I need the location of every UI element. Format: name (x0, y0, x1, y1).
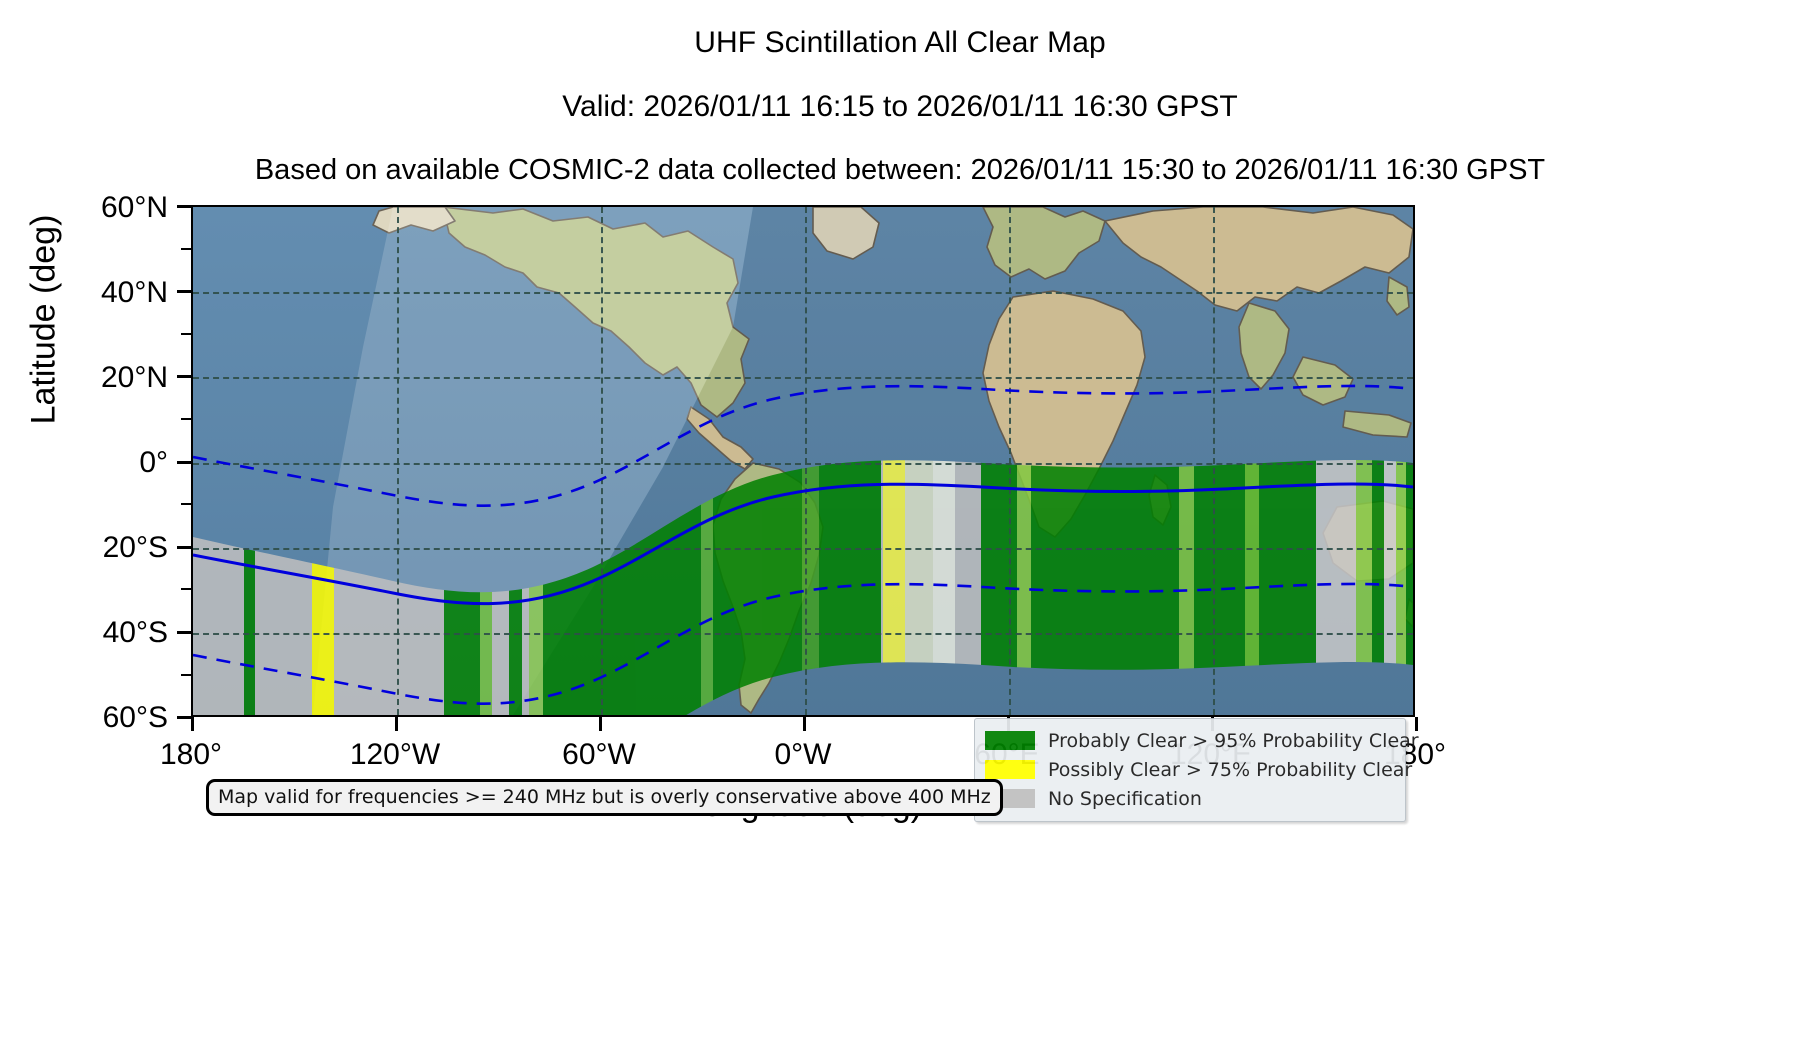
y-tick-minor-50S (181, 674, 191, 676)
legend-label-no-specification: No Specification (1048, 788, 1202, 810)
y-tick-label-20N: 20°N (101, 361, 168, 395)
y-tick-20N (177, 375, 191, 378)
legend-item-no-specification: No Specification (985, 784, 1395, 813)
x-tick-120W (395, 717, 398, 731)
legend-label-possibly-clear: Possibly Clear > 75% Probability Clear (1048, 759, 1412, 781)
y-tick-minor-10N (181, 418, 191, 420)
x-tick-label-0: 0°W (775, 738, 832, 772)
y-tick-label-0: 0° (139, 446, 168, 480)
frequency-validity-annotation: Map valid for frequencies >= 240 MHz but… (206, 779, 1003, 816)
legend-swatch-green (985, 731, 1035, 750)
magnetic-equator-curve (193, 484, 1413, 604)
y-tick-label-20S: 20°S (103, 531, 168, 565)
y-tick-minor-10S (181, 503, 191, 505)
x-tick-180W (191, 717, 194, 731)
legend-swatch-yellow (985, 760, 1035, 779)
y-axis-title: Latitude (deg) (25, 90, 64, 550)
x-tick-label-120W: 120°W (350, 738, 440, 772)
legend-item-possibly-clear: Possibly Clear > 75% Probability Clear (985, 755, 1395, 784)
map-plot-area[interactable] (191, 205, 1415, 717)
y-tick-40N (177, 290, 191, 293)
y-tick-60N (177, 205, 191, 208)
y-tick-minor-30N (181, 333, 191, 335)
figure-canvas: Latitude (deg) Longitude (deg) 60°N 40°N… (0, 0, 1800, 1050)
y-tick-label-60N: 60°N (101, 191, 168, 225)
y-tick-40S (177, 631, 191, 634)
y-tick-label-60S: 60°S (103, 701, 168, 735)
y-tick-minor-50N (181, 248, 191, 250)
map-legend: Probably Clear > 95% Probability Clear P… (974, 718, 1406, 822)
magnetic-equator-curves (193, 207, 1413, 715)
x-tick-60W (599, 717, 602, 731)
x-tick-label-180W: 180° (160, 738, 222, 772)
x-tick-label-60W: 60°W (562, 738, 636, 772)
y-tick-60S (177, 716, 191, 719)
y-tick-20S (177, 546, 191, 549)
y-tick-label-40N: 40°N (101, 276, 168, 310)
legend-label-probably-clear: Probably Clear > 95% Probability Clear (1048, 730, 1419, 752)
y-tick-minor-30S (181, 588, 191, 590)
y-tick-0 (177, 461, 191, 464)
lower-boundary-curve (193, 584, 1413, 704)
legend-item-probably-clear: Probably Clear > 95% Probability Clear (985, 726, 1395, 755)
y-tick-label-40S: 40°S (103, 616, 168, 650)
x-tick-0 (803, 717, 806, 731)
